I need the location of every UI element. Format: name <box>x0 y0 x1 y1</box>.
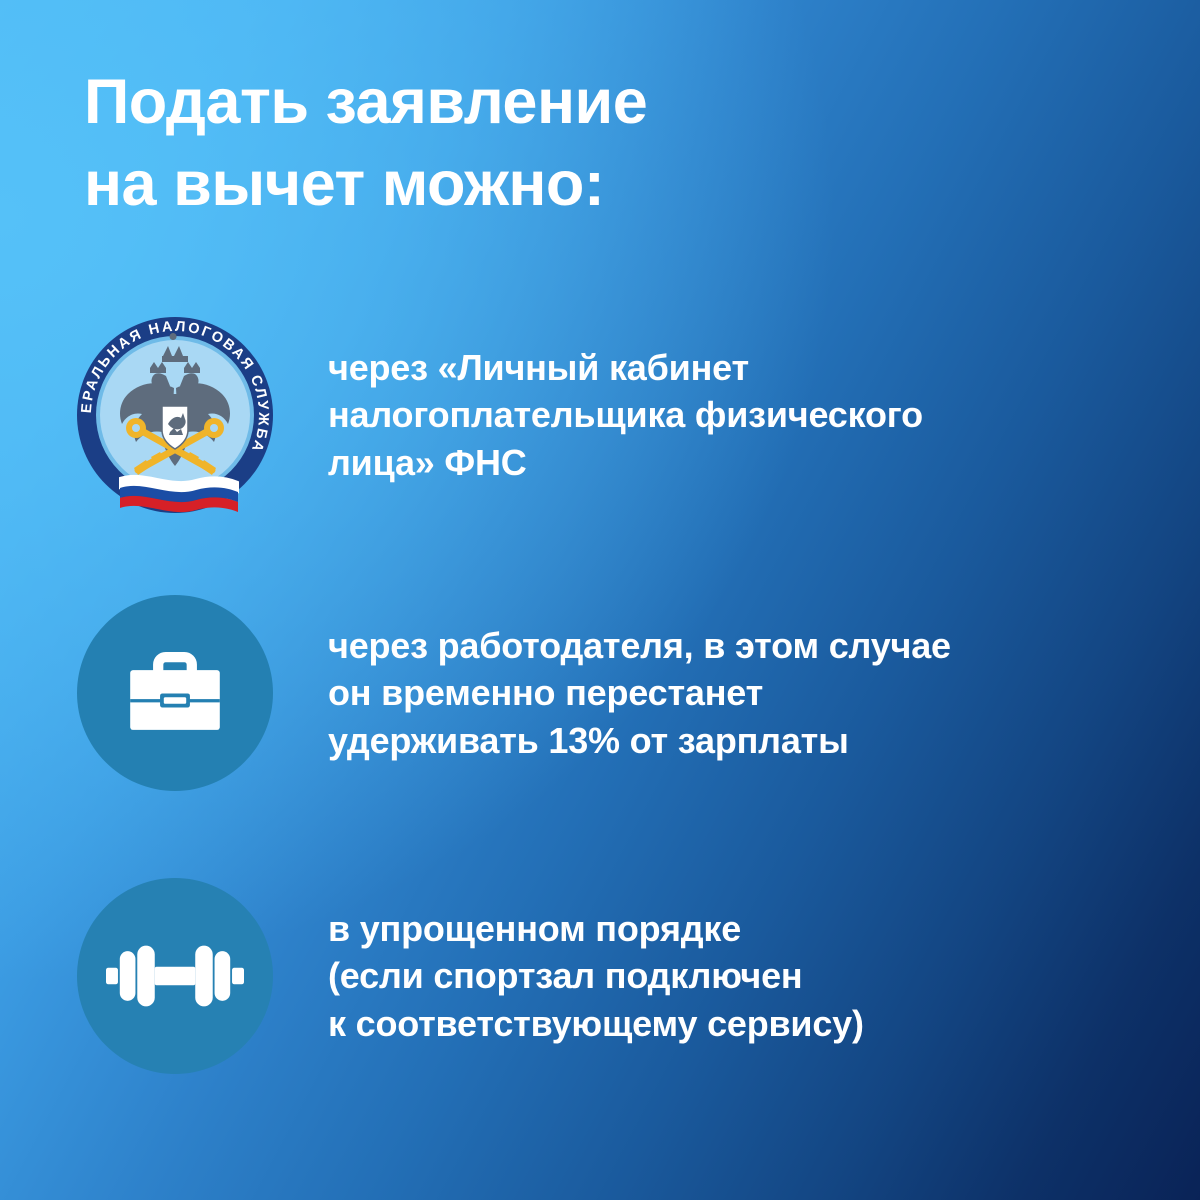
list-item-label: в упрощенном порядке (если спортзал подк… <box>328 905 1160 1048</box>
briefcase-icon <box>119 642 231 745</box>
list-item: в упрощенном порядке (если спортзал подк… <box>60 878 1160 1074</box>
icon-circle <box>77 878 273 1074</box>
fns-logo-icon: ФЕДЕРАЛЬНАЯ НАЛОГОВАЯ СЛУЖБА <box>62 302 288 528</box>
icon-slot <box>60 878 290 1074</box>
infographic-poster: Подать заявление на вычет можно: <box>0 0 1200 1200</box>
icon-slot: ФЕДЕРАЛЬНАЯ НАЛОГОВАЯ СЛУЖБА <box>60 302 290 528</box>
list-item: ФЕДЕРАЛЬНАЯ НАЛОГОВАЯ СЛУЖБА <box>60 300 1160 530</box>
page-title: Подать заявление на вычет можно: <box>84 62 984 226</box>
icon-circle <box>77 595 273 791</box>
list-item: через работодателя, в этом случае он вре… <box>60 595 1160 791</box>
list-item-label: через «Личный кабинет налогоплательщика … <box>328 344 1160 487</box>
dumbbell-icon <box>106 939 244 1013</box>
icon-slot <box>60 595 290 791</box>
list-item-label: через работодателя, в этом случае он вре… <box>328 622 1160 765</box>
